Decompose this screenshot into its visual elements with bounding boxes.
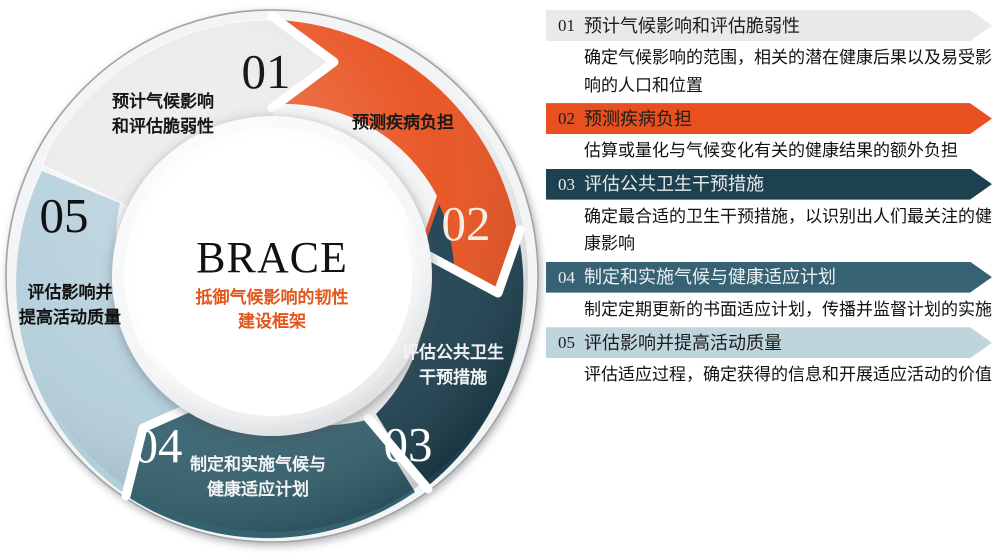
step-title-02: 预测疾病负担 xyxy=(584,110,692,128)
step-number-03: 03 xyxy=(558,176,575,193)
wheel-segment-label-02-line1: 预测疾病负担 xyxy=(352,112,454,132)
list-item[interactable]: 03 评估公共卫生干预措施 确定最合适的卫生干预措施，以识别出人们最关注的健康影… xyxy=(546,169,1004,262)
step-title-04: 制定和实施气候与健康适应计划 xyxy=(584,268,836,286)
list-item[interactable]: 05 评估影响并提高活动质量 评估适应过程，确定获得的信息和开展适应活动的价值 xyxy=(546,327,1004,393)
list-item[interactable]: 01 预计气候影响和评估脆弱性 确定气候影响的范围，相关的潜在健康后果以及易受影… xyxy=(546,10,1004,103)
brace-framework-infographic: BRACE 抵御气候影响的韧性 建设框架 01 02 03 04 05 预计气候… xyxy=(0,0,1004,553)
step-banner-05[interactable]: 05 评估影响并提高活动质量 xyxy=(546,327,992,358)
wheel-segment-label-04-line2: 健康适应计划 xyxy=(207,479,309,499)
step-banner-02[interactable]: 02 预测疾病负担 xyxy=(546,103,992,134)
step-title-01: 预计气候影响和评估脆弱性 xyxy=(584,17,800,35)
step-title-05: 评估影响并提高活动质量 xyxy=(584,334,782,352)
list-item[interactable]: 02 预测疾病负担 估算或量化与气候变化有关的健康结果的额外负担 xyxy=(546,103,1004,169)
wheel-segment-number-05: 05 xyxy=(40,188,89,243)
step-description-02: 估算或量化与气候变化有关的健康结果的额外负担 xyxy=(546,134,998,169)
wheel-segment-number-01: 01 xyxy=(242,44,291,99)
hub-subtitle-line1: 抵御气候影响的韧性 xyxy=(196,287,349,307)
step-banner-04[interactable]: 04 制定和实施气候与健康适应计划 xyxy=(546,262,992,293)
wheel-segment-number-04: 04 xyxy=(134,418,183,473)
brace-cycle-wheel: BRACE 抵御气候影响的韧性 建设框架 01 02 03 04 05 预计气候… xyxy=(0,0,545,553)
wheel-segment-number-02: 02 xyxy=(442,196,491,251)
wheel-segment-label-03-line1: 评估公共卫生 xyxy=(402,342,504,362)
step-banner-01[interactable]: 01 预计气候影响和评估脆弱性 xyxy=(546,10,992,41)
steps-list: 01 预计气候影响和评估脆弱性 确定气候影响的范围，相关的潜在健康后果以及易受影… xyxy=(546,0,1004,553)
wheel-segment-number-03: 03 xyxy=(384,417,433,472)
step-description-03: 确定最合适的卫生干预措施，以识别出人们最关注的健康影响 xyxy=(546,200,998,262)
step-banner-03[interactable]: 03 评估公共卫生干预措施 xyxy=(546,169,992,200)
step-number-04: 04 xyxy=(558,269,575,286)
wheel-segment-label-01-line1: 预计气候影响 xyxy=(112,91,214,111)
wheel-segment-label-05-line1: 评估影响并 xyxy=(28,282,113,302)
list-item[interactable]: 04 制定和实施气候与健康适应计划 制定定期更新的书面适应计划，传播并监督计划的… xyxy=(546,262,1004,328)
wheel-segment-label-04-line1: 制定和实施气候与 xyxy=(190,454,326,474)
hub-title: BRACE xyxy=(196,233,348,282)
step-number-05: 05 xyxy=(558,334,575,351)
step-number-02: 02 xyxy=(558,110,575,127)
wheel-segment-label-03-line2: 干预措施 xyxy=(419,367,487,387)
step-description-05: 评估适应过程，确定获得的信息和开展适应活动的价值 xyxy=(546,358,998,393)
step-title-03: 评估公共卫生干预措施 xyxy=(584,175,764,193)
hub-subtitle-line2: 建设框架 xyxy=(238,311,306,331)
step-number-01: 01 xyxy=(558,17,575,34)
step-description-04: 制定定期更新的书面适应计划，传播并监督计划的实施 xyxy=(546,293,998,328)
wheel-segment-label-01-line2: 和评估脆弱性 xyxy=(112,116,214,136)
step-description-01: 确定气候影响的范围，相关的潜在健康后果以及易受影响的人口和位置 xyxy=(546,41,998,103)
wheel-segment-label-05-line2: 提高活动质量 xyxy=(19,307,121,327)
